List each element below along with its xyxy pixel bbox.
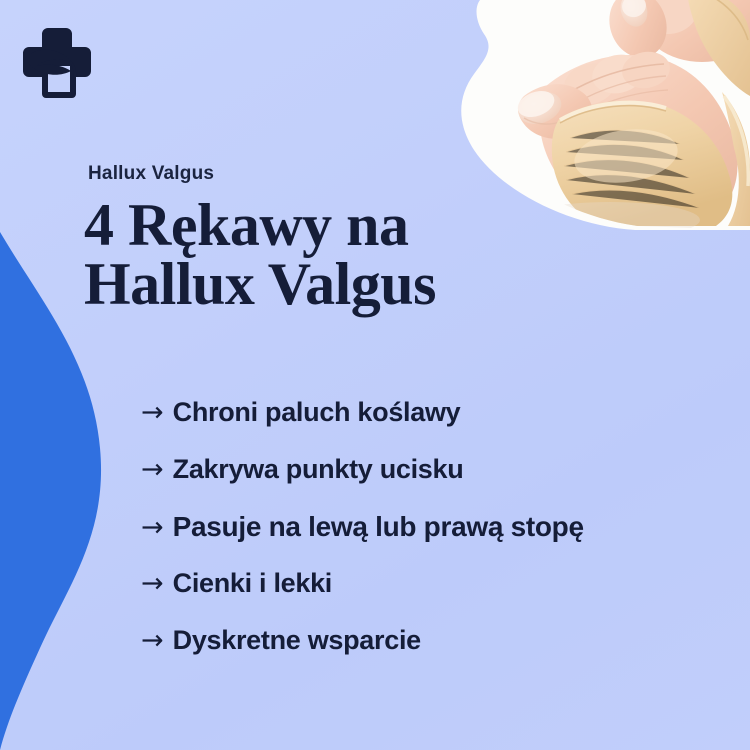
list-item-label: Pasuje na lewą lub prawą stopę	[173, 513, 584, 541]
arrow-right-icon: →	[141, 514, 164, 541]
list-item-label: Zakrywa punkty ucisku	[173, 456, 464, 483]
arrow-right-icon: →	[141, 399, 164, 426]
list-item-label: Cienki i lekki	[173, 570, 332, 597]
promo-poster: Hallux Valgus 4 Rękawy na Hallux Valgus …	[0, 0, 750, 750]
list-item-label: Chroni paluch koślawy	[173, 399, 461, 426]
list-item-label: Dyskretne wsparcie	[173, 627, 421, 654]
benefit-list: → Chroni paluch koślawy → Zakrywa punkty…	[141, 399, 731, 684]
page-title: 4 Rękawy na Hallux Valgus	[84, 196, 704, 315]
list-item: → Dyskretne wsparcie	[141, 627, 731, 684]
brand-logo	[18, 22, 94, 100]
list-item: → Cienki i lekki	[141, 570, 731, 627]
eyebrow-label: Hallux Valgus	[88, 163, 214, 185]
arrow-right-icon: →	[141, 570, 164, 597]
headline-line-1: 4 Rękawy na	[84, 196, 704, 255]
headline-line-2: Hallux Valgus	[84, 255, 704, 314]
list-item: → Zakrywa punkty ucisku	[141, 456, 731, 513]
list-item: → Chroni paluch koślawy	[141, 399, 731, 456]
arrow-right-icon: →	[141, 456, 164, 483]
list-item: → Pasuje na lewą lub prawą stopę	[141, 513, 731, 570]
arrow-right-icon: →	[141, 627, 164, 654]
